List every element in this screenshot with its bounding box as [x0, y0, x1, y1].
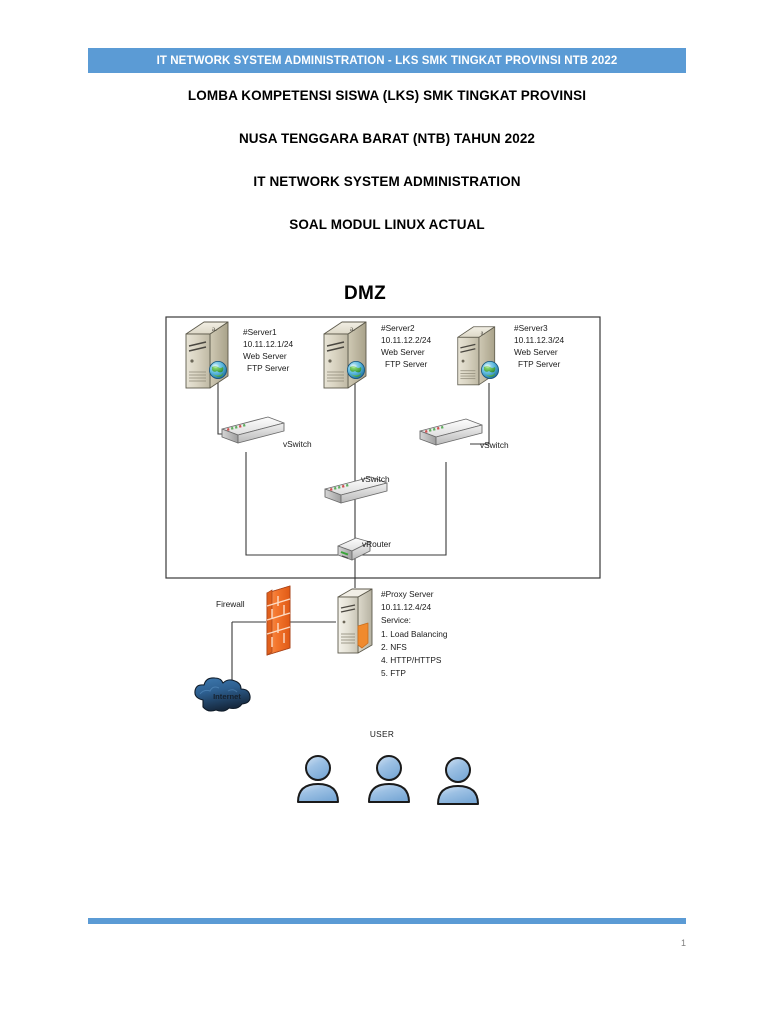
document-title-block: LOMBA KOMPETENSI SISWA (LKS) SMK TINGKAT…	[88, 88, 686, 232]
globe-icon-server-1	[209, 361, 226, 378]
proxy-service-item: 4. HTTP/HTTPS	[381, 654, 447, 667]
user-icon-3	[438, 758, 478, 804]
user-group-label: USER	[347, 729, 417, 739]
server-2-name: #Server2	[381, 322, 431, 334]
server-3-role-web: Web Server	[514, 346, 564, 358]
server-icon-1	[186, 322, 228, 388]
server-icon-2	[324, 322, 366, 388]
proxy-service-item: 2. NFS	[381, 641, 447, 654]
server-icon-3	[458, 327, 495, 385]
connection-lines	[218, 383, 489, 690]
firewall-icon	[267, 586, 290, 655]
globe-icon-server-3	[481, 361, 498, 378]
proxy-service-item: 1. Load Balancing	[381, 628, 447, 641]
title-line-3: IT NETWORK SYSTEM ADMINISTRATION	[88, 174, 686, 189]
server-1-ip: 10.11.12.1/24	[243, 338, 293, 350]
vswitch-right-label: vSwitch	[480, 440, 509, 450]
title-line-1: LOMBA KOMPETENSI SISWA (LKS) SMK TINGKAT…	[88, 88, 686, 103]
proxy-server-label-group: #Proxy Server 10.11.12.4/24 Service: 1. …	[381, 588, 447, 680]
vswitch-left-label: vSwitch	[283, 439, 312, 449]
footer-rule	[88, 918, 686, 924]
user-icon-1	[298, 756, 338, 802]
server-3-role-ftp: FTP Server	[514, 358, 564, 370]
vrouter-label: vRouter	[362, 539, 391, 549]
user-icon-2	[369, 756, 409, 802]
server-1-role-ftp: FTP Server	[243, 362, 293, 374]
internet-cloud-label: Internet	[198, 692, 256, 701]
server-3-name: #Server3	[514, 322, 564, 334]
server-2-role-web: Web Server	[381, 346, 431, 358]
server-2-role-ftp: FTP Server	[381, 358, 431, 370]
vswitch-icon-right	[420, 419, 482, 445]
server-1-label-group: #Server1 10.11.12.1/24 Web Server FTP Se…	[243, 326, 293, 374]
server-3-label-group: #Server3 10.11.12.3/24 Web Server FTP Se…	[514, 322, 564, 370]
title-line-4: SOAL MODUL LINUX ACTUAL	[88, 217, 686, 232]
vswitch-center-label: vSwitch	[361, 474, 390, 484]
server-2-label-group: #Server2 10.11.12.2/24 Web Server FTP Se…	[381, 322, 431, 370]
header-band-text: IT NETWORK SYSTEM ADMINISTRATION - LKS S…	[157, 55, 618, 67]
globe-icon-server-2	[347, 361, 364, 378]
server-1-role-web: Web Server	[243, 350, 293, 362]
server-3-ip: 10.11.12.3/24	[514, 334, 564, 346]
proxy-service-heading: Service:	[381, 614, 447, 627]
server-2-ip: 10.11.12.2/24	[381, 334, 431, 346]
title-line-2: NUSA TENGGARA BARAT (NTB) TAHUN 2022	[88, 131, 686, 146]
vswitch-icon-left	[222, 417, 284, 443]
proxy-name: #Proxy Server	[381, 588, 447, 601]
server-1-name: #Server1	[243, 326, 293, 338]
firewall-label: Firewall	[216, 599, 245, 609]
page-number: 1	[600, 938, 686, 948]
dmz-zone-title: DMZ	[300, 283, 430, 305]
proxy-server-icon	[338, 589, 372, 653]
proxy-ip: 10.11.12.4/24	[381, 601, 447, 614]
proxy-service-item: 5. FTP	[381, 667, 447, 680]
document-header-band: IT NETWORK SYSTEM ADMINISTRATION - LKS S…	[88, 48, 686, 73]
